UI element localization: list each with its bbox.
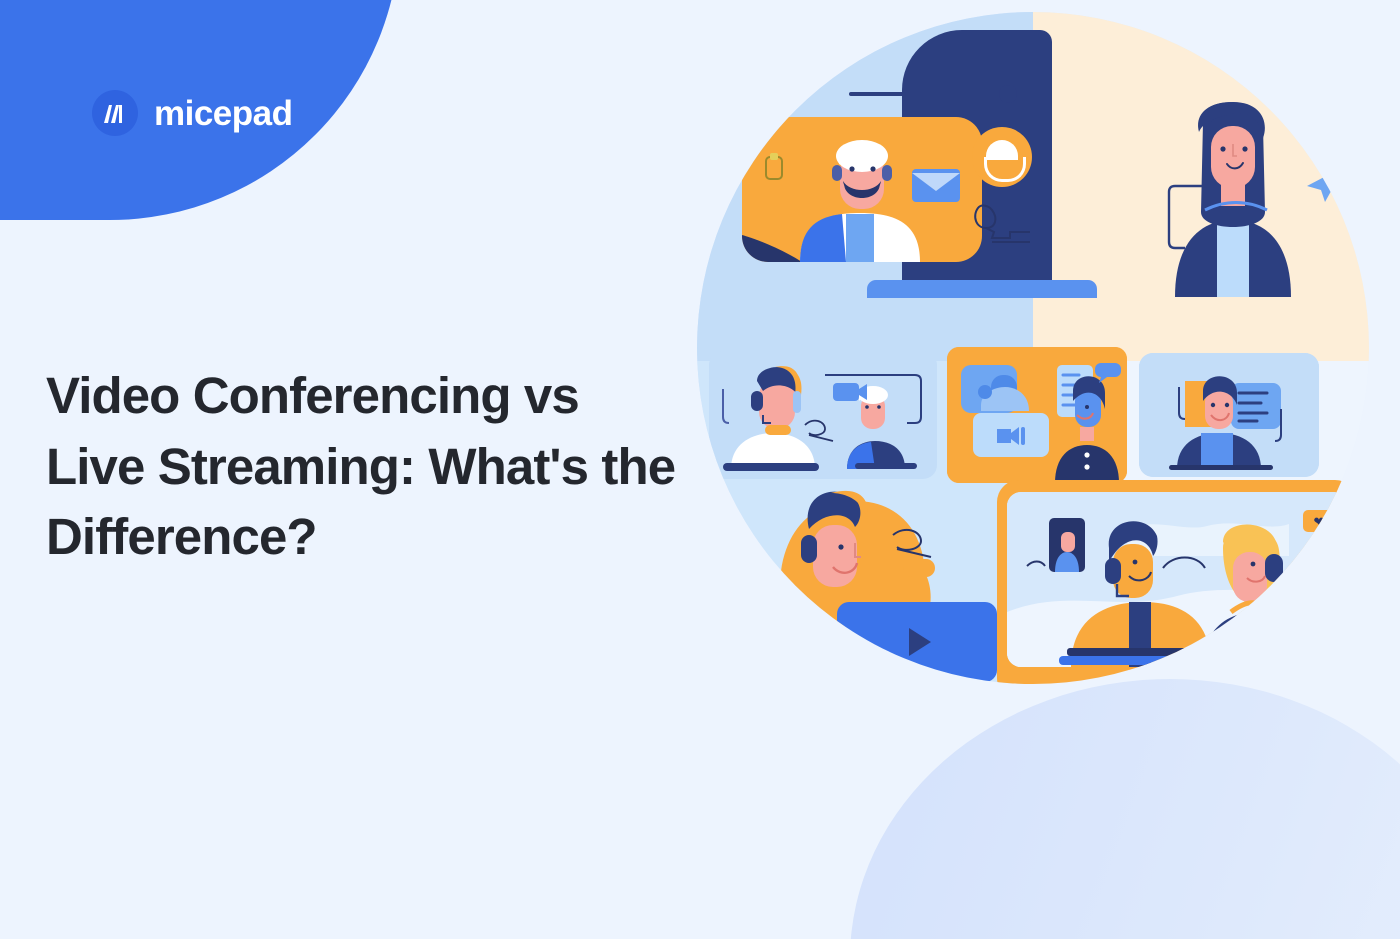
panel-bottom-right: ❤ — [997, 480, 1357, 684]
progress-dot-icon — [999, 85, 1017, 103]
focus-bracket-icon-tr — [1167, 184, 1209, 250]
heart-icon: ❤ — [1303, 510, 1335, 532]
poster-canvas: micepad Video Conferencing vs Live Strea… — [0, 0, 1400, 939]
bottom-right-blob-shape — [850, 679, 1400, 939]
avatar-icon — [972, 127, 1032, 187]
middle-row — [697, 347, 1369, 483]
stream-screen — [1007, 492, 1347, 667]
send-arrow-icon — [1301, 164, 1347, 204]
panel-middle-right — [1139, 353, 1319, 477]
brand-logo[interactable]: micepad — [92, 90, 293, 136]
progress-line-icon — [849, 92, 1009, 96]
hero-illustration: ❤ — [697, 12, 1369, 684]
desk-bar-shape — [867, 280, 1097, 298]
brand-name: micepad — [154, 96, 293, 131]
line-art-figures — [972, 202, 1038, 250]
panel-middle-left — [709, 351, 937, 479]
panel-top-left-person — [742, 117, 982, 262]
play-icon — [909, 628, 931, 656]
play-button-card[interactable] — [837, 602, 997, 682]
page-title: Video Conferencing vs Live Streaming: Wh… — [46, 361, 686, 572]
micepad-bars-mark-icon — [92, 90, 138, 136]
panel-middle-center — [947, 347, 1127, 483]
